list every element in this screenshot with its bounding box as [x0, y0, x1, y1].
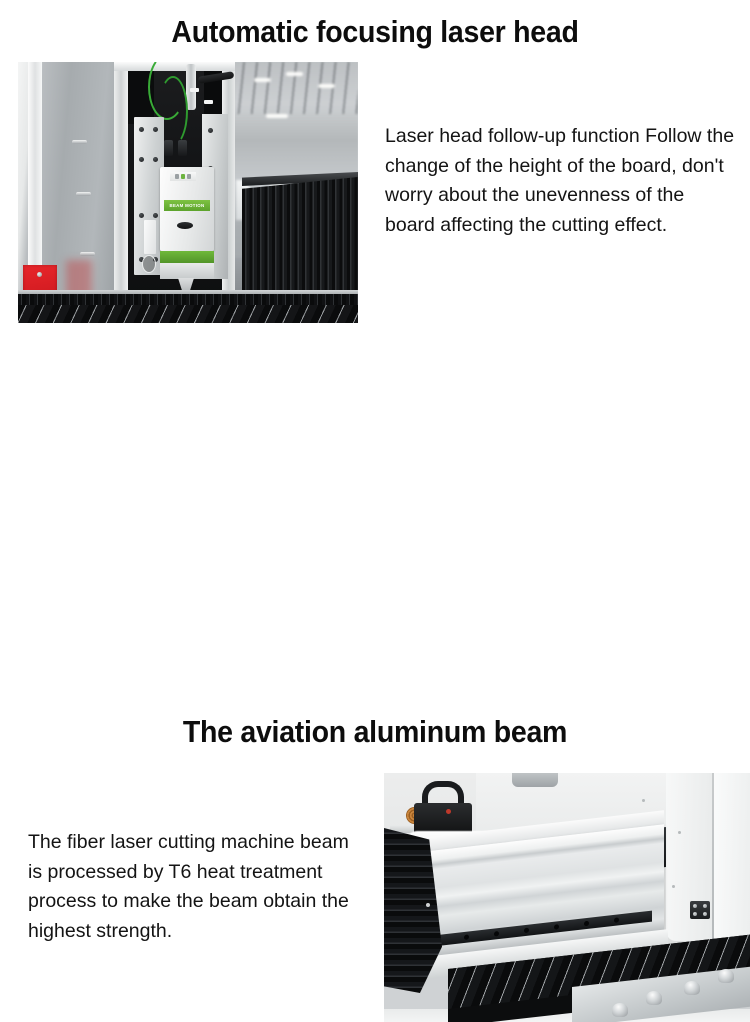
protective-bellows [242, 177, 358, 295]
rail-hole [494, 931, 499, 937]
section-1-body-text: Laser head follow-up function Follow the… [385, 122, 737, 240]
plate-bolt [139, 213, 144, 218]
exhaust-duct [512, 773, 558, 787]
rail-hole [614, 917, 619, 923]
section-1-heading: Automatic focusing laser head [30, 14, 720, 50]
ceiling-lamp-icon [318, 84, 335, 88]
support-pin [612, 1003, 628, 1017]
panel-screw [642, 799, 645, 802]
plate-bolt [208, 128, 213, 133]
ceiling-lamp-icon [266, 114, 288, 118]
plate-bolt [139, 127, 144, 132]
ceiling-beams [230, 62, 358, 114]
head-logo [170, 172, 196, 181]
hinge-screw [693, 904, 697, 908]
plate-bolt [153, 213, 158, 218]
section-2-body-text: The fiber laser cutting machine beam is … [28, 828, 358, 946]
panel-screw [37, 272, 42, 277]
hinge-screw [693, 912, 697, 916]
plate-bolt [153, 157, 158, 162]
section-2-heading: The aviation aluminum beam [30, 714, 720, 750]
panel-seam [712, 773, 714, 943]
section-laser-head: Automatic focusing laser head [0, 0, 750, 350]
panel-screw [678, 831, 681, 834]
rail-hole [464, 934, 469, 940]
ceiling-lamp-icon [254, 78, 271, 82]
sensor-ring [142, 255, 156, 273]
height-sensor-module [144, 220, 156, 254]
panel-edge-highlight [28, 62, 42, 294]
aluminum-beam-photo [384, 773, 750, 1022]
gantry-frame-left [114, 62, 128, 310]
panel-handle [76, 192, 91, 196]
panel-handle [72, 140, 87, 144]
hinge-screw [703, 904, 707, 908]
logo-glyph [187, 174, 191, 179]
plate-bolt [153, 127, 158, 132]
head-housing-marking [160, 267, 214, 272]
hinge-screw [703, 912, 707, 916]
cable-tie [190, 88, 199, 92]
cable-tie [204, 100, 213, 104]
tool-indicator-light [446, 809, 451, 814]
section-aluminum-beam: The aviation aluminum beam The fiber las… [0, 350, 750, 700]
bellows-fastener [426, 903, 430, 907]
support-pin [684, 981, 700, 995]
head-lower-housing [160, 263, 214, 279]
door-hinge-plate [690, 901, 710, 919]
panel-screw [672, 885, 675, 888]
rail-hole [554, 924, 559, 930]
laser-head-photo: BEAM MOTION [18, 62, 358, 323]
beam-motion-label: BEAM MOTION [164, 200, 210, 211]
plate-bolt [139, 157, 144, 162]
logo-glyph [175, 174, 179, 179]
head-indicator-window [177, 222, 193, 229]
support-pin [718, 969, 734, 983]
cable-connector [178, 140, 187, 156]
logo-glyph [181, 174, 185, 179]
cable-connector [164, 140, 173, 156]
panel-handle [80, 252, 95, 256]
support-pin [646, 991, 662, 1005]
rail-hole [524, 928, 529, 934]
rail-hole [584, 921, 589, 927]
beam-motion-label-text: BEAM MOTION [169, 203, 204, 208]
ceiling-lamp-icon [286, 72, 303, 76]
slat-zigzag [18, 305, 358, 323]
